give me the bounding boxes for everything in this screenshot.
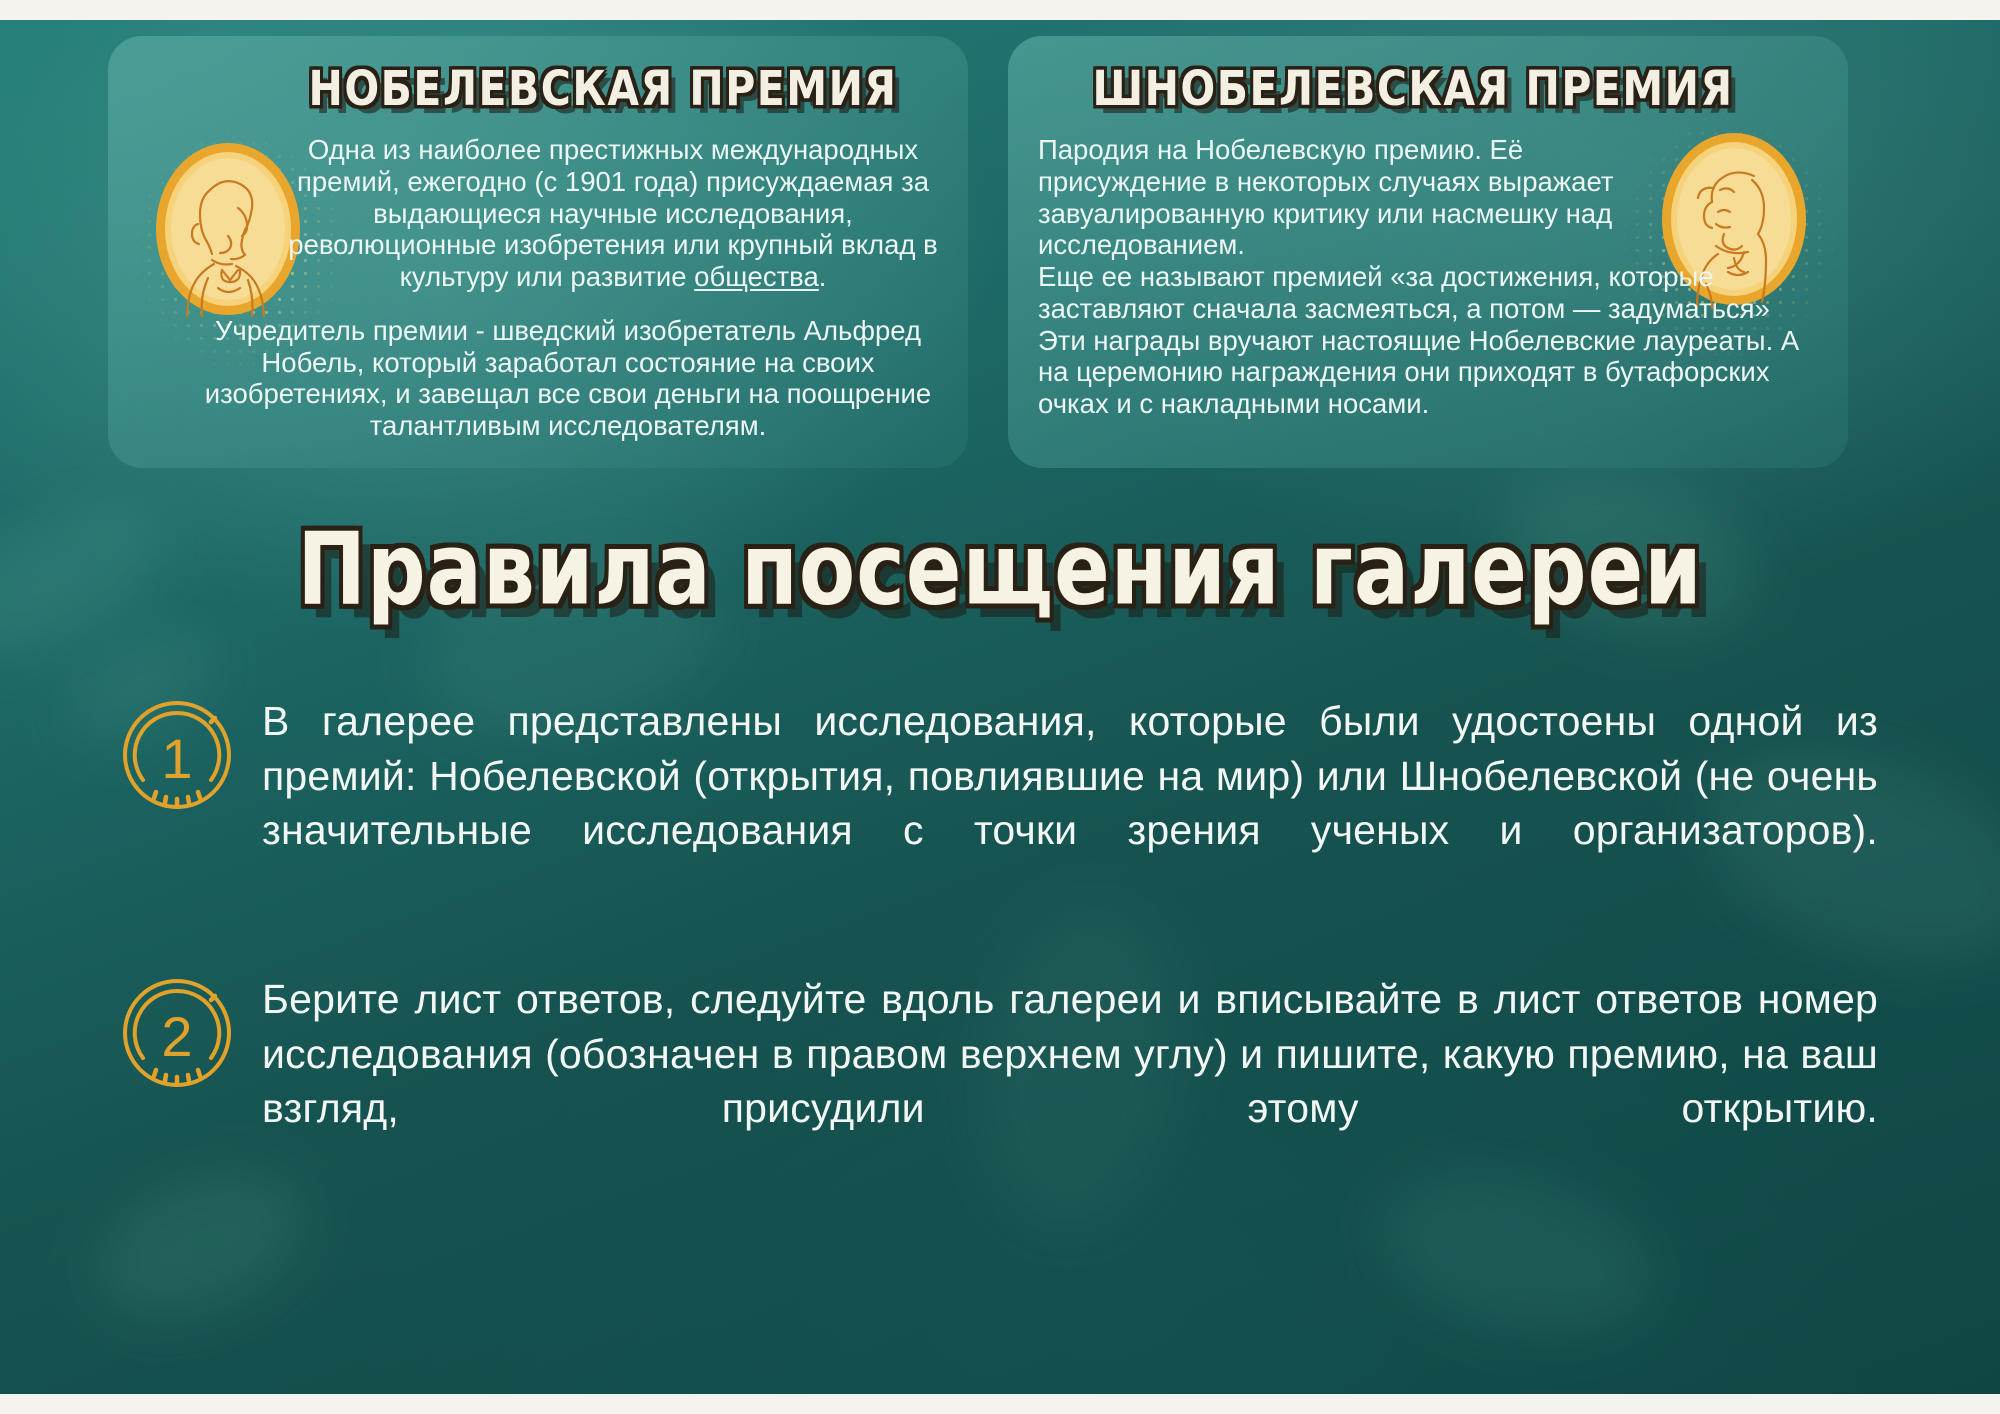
numbered-coin-icon: 1 [118,696,236,814]
numbered-coin-icon: 2 [118,974,236,1092]
info-cards-row: НОБЕЛЕВСКАЯ ПРЕМИЯ [108,36,1908,468]
rule-number-1: 1 [161,727,192,790]
rules-list: 1 В галерее представлены исследования, к… [118,690,1878,1246]
card-nobel-prize: НОБЕЛЕВСКАЯ ПРЕМИЯ [108,36,968,468]
rule-item: 2 Берите лист ответов, следуйте вдоль га… [118,968,1878,1190]
card-ig-nobel-paragraph-1: Пародия на Нобелевскую премию. Её присуж… [1038,134,1818,261]
slide-root: НОБЕЛЕВСКАЯ ПРЕМИЯ [0,0,2000,1414]
rule-item: 1 В галерее представлены исследования, к… [118,690,1878,912]
card-nobel-paragraph-2: Учредитель премии - шведский изобретател… [138,315,938,442]
rule-text: В галерее представлены исследования, кот… [262,690,1878,912]
card-nobel-paragraph-1: Одна из наиболее престижных международны… [138,134,938,293]
top-white-strip [0,0,2000,20]
card-ig-nobel-prize: ШНОБЕЛЕВСКАЯ ПРЕМИЯ [1008,36,1848,468]
card-ig-nobel-title: ШНОБЕЛЕВСКАЯ ПРЕМИЯ [1038,60,1818,117]
underlined-term: общества [694,261,819,292]
card-ig-nobel-paragraph-3: Эти награды вручают настоящие Нобелевски… [1038,325,1818,420]
card-ig-nobel-paragraph-2: Еще ее называют премией «за достижения, … [1038,261,1818,325]
rule-text: Берите лист ответов, следуйте вдоль гале… [262,968,1878,1190]
page-title: Правила посещения галереи [0,512,2000,628]
bottom-white-strip [0,1394,2000,1414]
rule-number-2: 2 [161,1005,192,1068]
card-nobel-title: НОБЕЛЕВСКАЯ ПРЕМИЯ [138,60,938,117]
